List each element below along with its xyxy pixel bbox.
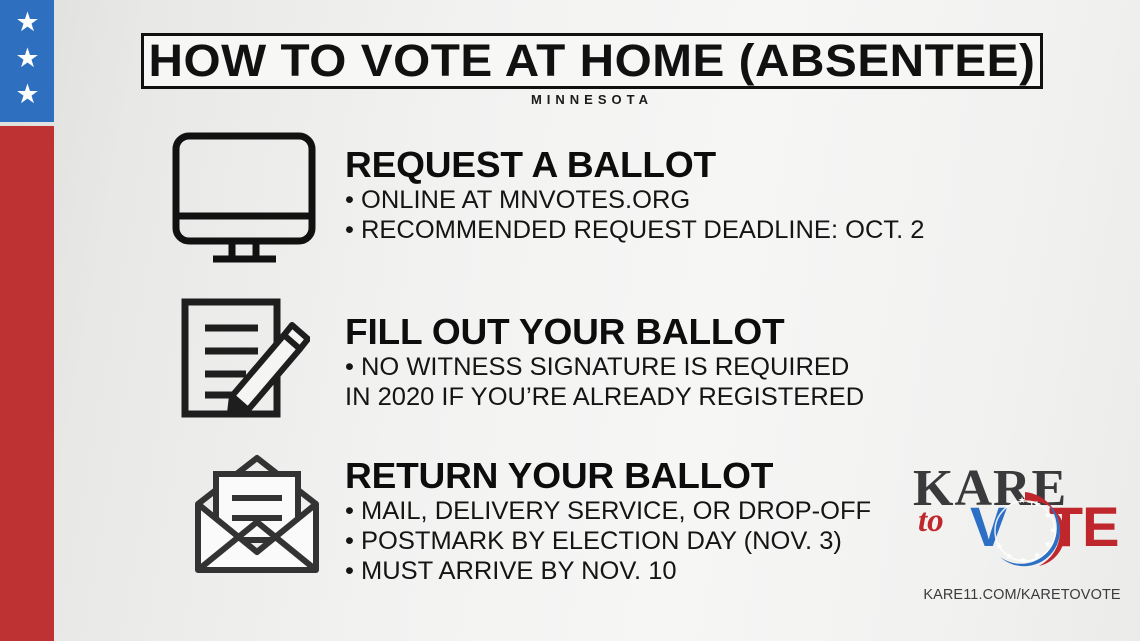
step-fill-text: FILL OUT YOUR BALLOT • NO WITNESS SIGNAT… xyxy=(345,313,854,412)
desktop-monitor-icon xyxy=(170,130,320,270)
infographic-canvas: ★ ★ ★ HOW TO VOTE AT HOME (ABSENTEE) MIN… xyxy=(0,0,1140,641)
svg-text:★: ★ xyxy=(1044,510,1052,520)
svg-text:★: ★ xyxy=(995,541,1003,551)
step-bullet: • RECOMMENDED REQUEST DEADLINE: OCT. 2 xyxy=(345,215,924,245)
svg-text:★: ★ xyxy=(1044,539,1052,549)
flag-sidebar: ★ ★ ★ xyxy=(0,0,54,641)
step-heading: REQUEST A BALLOT xyxy=(345,146,930,184)
logo-url-text: KARE11.COM/KARETOVOTE xyxy=(898,587,1140,603)
step-bullet: • POSTMARK BY ELECTION DAY (NOV. 3) xyxy=(345,526,871,556)
step-heading: FILL OUT YOUR BALLOT xyxy=(345,313,869,351)
star-icon: ★ xyxy=(15,10,40,35)
step-return-text: RETURN YOUR BALLOT • MAIL, DELIVERY SERV… xyxy=(345,457,861,586)
svg-text:★: ★ xyxy=(1033,550,1041,560)
step-bullet: • MAIL, DELIVERY SERVICE, OR DROP-OFF xyxy=(345,496,871,526)
document-pencil-icon xyxy=(180,297,310,424)
step-heading: RETURN YOUR BALLOT xyxy=(345,457,876,495)
svg-text:★: ★ xyxy=(1033,499,1041,509)
logo-to-word: to xyxy=(918,505,944,538)
svg-text:★: ★ xyxy=(1049,525,1057,535)
flag-red-stripe xyxy=(0,126,54,641)
title-box: HOW TO VOTE AT HOME (ABSENTEE) xyxy=(141,33,1043,89)
kare-to-vote-logo: KARE to VOTE ★ ★ ★ ★ ★ ★ ★ ★ xyxy=(898,463,1140,613)
step-bullet: • ONLINE AT MNVOTES.ORG xyxy=(345,185,924,215)
star-icon: ★ xyxy=(15,46,40,71)
flag-blue-field: ★ ★ ★ xyxy=(0,0,54,122)
stars-swoosh-seal-icon: ★ ★ ★ ★ ★ ★ ★ ★ ★ xyxy=(984,490,1066,572)
page-subtitle: MINNESOTA xyxy=(141,92,1043,107)
star-icon: ★ xyxy=(15,82,40,107)
svg-text:★: ★ xyxy=(1018,495,1026,505)
svg-text:★: ★ xyxy=(1019,555,1027,565)
step-bullet: • MUST ARRIVE BY NOV. 10 xyxy=(345,556,871,586)
step-request-text: REQUEST A BALLOT • ONLINE AT MNVOTES.ORG… xyxy=(345,146,913,245)
step-bullet: • NO WITNESS SIGNATURE IS REQUIRED xyxy=(345,352,864,382)
step-bullet-cont: IN 2020 IF YOU’RE ALREADY REGISTERED xyxy=(345,382,864,412)
open-envelope-icon xyxy=(190,450,325,583)
page-title: HOW TO VOTE AT HOME (ABSENTEE) xyxy=(117,36,1067,86)
svg-text:★: ★ xyxy=(1005,551,1013,561)
